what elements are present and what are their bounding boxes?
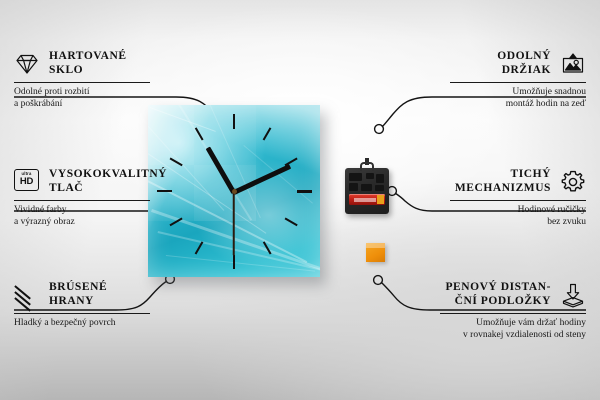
mechanism-hanger-lug [360,162,374,171]
feature-foam-spacers: PENOVÝ DISTAN- ČNÍ PODLOŽKY Umožňuje vám… [426,281,586,341]
divider [14,200,150,201]
divider [14,313,150,314]
ultra-hd-large-label: HD [20,177,33,187]
divider [14,82,150,83]
second-hand [233,192,235,256]
divider [450,200,586,201]
tick-4 [284,218,297,227]
feature-description: Umožňuje snadnou montáž hodin na zeď [436,87,586,110]
feature-description: Hladký a bezpečný povrch [14,318,164,330]
tick-6 [233,255,235,269]
feature-title: VYSOKOKVALITNÝ TLAČ [49,168,167,195]
gear-icon [560,169,586,195]
foam-spacer-pad [366,243,385,262]
foam-spacer-arrow-icon [560,282,586,308]
feature-description: Odolné proti rozbití a poškrábání [14,87,164,110]
aa-battery [349,194,385,205]
brushed-edges-icon [14,282,40,308]
tick-12 [233,114,235,129]
feature-description: Umožňuje vám držať hodiny v rovnakej vzd… [426,318,586,341]
feature-title: ODOLNÝ DRŽIAK [497,50,551,77]
clock-mechanism [345,168,389,214]
foam-pad-top-face [366,243,385,248]
feature-title: TICHÝ MECHANIZMUS [455,168,551,195]
battery-label [354,198,376,202]
feature-title: BRÚSENÉ HRANY [49,281,107,308]
diamond-icon [14,51,40,77]
feature-description: Hodinové ručičky bez zvuku [436,205,586,228]
battery-positive-terminal [377,195,384,204]
feature-tempered-glass: HARTOVANÉ SKLO Odolné proti rozbití a po… [14,50,164,110]
clock-pivot [232,189,237,194]
feature-silent-mechanism: TICHÝ MECHANIZMUS Hodinové ručičky bez z… [436,168,586,228]
connector-dot-right-top [375,125,384,134]
feature-durable-hanger: ODOLNÝ DRŽIAK Umožňuje snadnou montáž ho… [436,50,586,110]
feature-title: HARTOVANÉ SKLO [49,50,127,77]
feature-description: Vividné farby a výrazný obraz [14,205,164,228]
feature-high-quality-print: ultra HD VYSOKOKVALITNÝ TLAČ Vividné far… [14,168,164,228]
tick-3 [297,190,312,193]
clock-face [148,105,320,277]
divider [440,313,586,314]
tick-1 [263,127,272,140]
divider [450,82,586,83]
picture-frame-hanger-icon [560,51,586,77]
ultra-hd-icon: ultra HD [14,169,40,195]
feature-title: PENOVÝ DISTAN- ČNÍ PODLOŽKY [445,281,551,308]
tick-7 [195,241,204,254]
feature-brushed-edges: BRÚSENÉ HRANY Hladký a bezpečný povrch [14,281,164,330]
wall-clock-product [148,105,320,277]
product-infographic: HARTOVANÉ SKLO Odolné proti rozbití a po… [0,0,600,400]
connector-dot-right-bottom [374,276,383,285]
